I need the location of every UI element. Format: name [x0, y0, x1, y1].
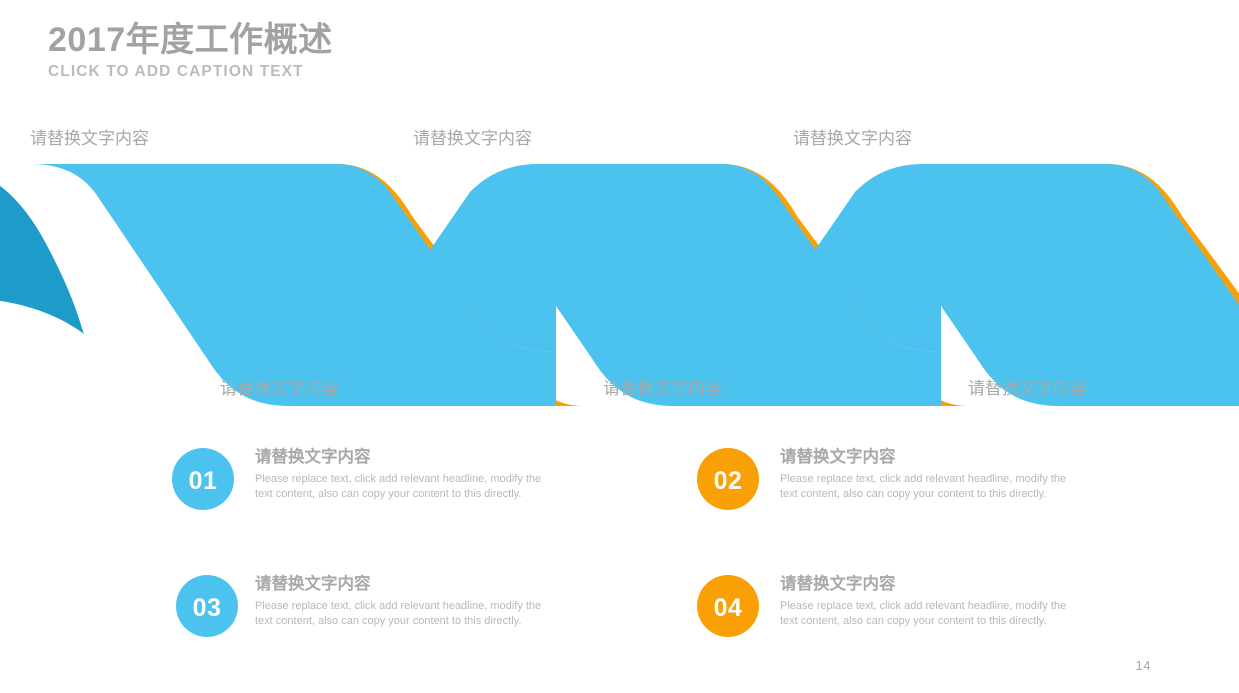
item-text-02: 请替换文字内容 Please replace text, click add r…: [780, 445, 1100, 502]
item-number-03: 03: [193, 594, 222, 623]
page-title: 2017年度工作概述: [48, 20, 333, 60]
list-item-03[interactable]: 03 请替换文字内容 Please replace text, click ad…: [176, 575, 596, 675]
item-badge-03[interactable]: 03: [176, 575, 238, 637]
item-heading-03: 请替换文字内容: [255, 572, 575, 596]
list-item-02[interactable]: 02 请替换文字内容 Please replace text, click ad…: [697, 448, 1117, 548]
twisted-ribbon-icon: [0, 120, 1239, 420]
item-body-01: Please replace text, click add relevant …: [255, 472, 545, 502]
item-body-04: Please replace text, click add relevant …: [780, 599, 1070, 629]
ribbon-top-label-1: 请替换文字内容: [30, 128, 149, 150]
item-badge-02[interactable]: 02: [697, 448, 759, 510]
item-number-02: 02: [714, 467, 743, 496]
list-item-04[interactable]: 04 请替换文字内容 Please replace text, click ad…: [697, 575, 1117, 675]
item-text-01: 请替换文字内容 Please replace text, click add r…: [255, 445, 575, 502]
ribbon-fold-shadow: [0, 164, 84, 334]
ribbon-diagram: 请替换文字内容 请替换文字内容 请替换文字内容 请替换文字内容 请替换文字内容 …: [0, 120, 1239, 420]
list-item-01[interactable]: 01 请替换文字内容 Please replace text, click ad…: [172, 448, 592, 548]
item-badge-01[interactable]: 01: [172, 448, 234, 510]
item-heading-01: 请替换文字内容: [255, 445, 575, 469]
slide-header: 2017年度工作概述 CLICK TO ADD CAPTION TEXT: [48, 20, 333, 82]
item-text-04: 请替换文字内容 Please replace text, click add r…: [780, 572, 1100, 629]
item-text-03: 请替换文字内容 Please replace text, click add r…: [255, 572, 575, 629]
item-number-04: 04: [714, 594, 743, 623]
page-number: 14: [1136, 658, 1151, 673]
item-heading-04: 请替换文字内容: [780, 572, 1100, 596]
page-subtitle: CLICK TO ADD CAPTION TEXT: [48, 62, 333, 82]
item-number-01: 01: [189, 467, 218, 496]
item-badge-04[interactable]: 04: [697, 575, 759, 637]
ribbon-top-label-2: 请替换文字内容: [413, 128, 532, 150]
ribbon-bottom-label-2: 请替换文字内容: [603, 378, 722, 400]
slide-canvas: 2017年度工作概述 CLICK TO ADD CAPTION TEXT: [0, 0, 1239, 693]
item-heading-02: 请替换文字内容: [780, 445, 1100, 469]
ribbon-bottom-label-3: 请替换文字内容: [968, 378, 1087, 400]
ribbon-top-label-3: 请替换文字内容: [793, 128, 912, 150]
ribbon-bottom-label-1: 请替换文字内容: [220, 378, 339, 400]
item-body-03: Please replace text, click add relevant …: [255, 599, 545, 629]
item-body-02: Please replace text, click add relevant …: [780, 472, 1070, 502]
